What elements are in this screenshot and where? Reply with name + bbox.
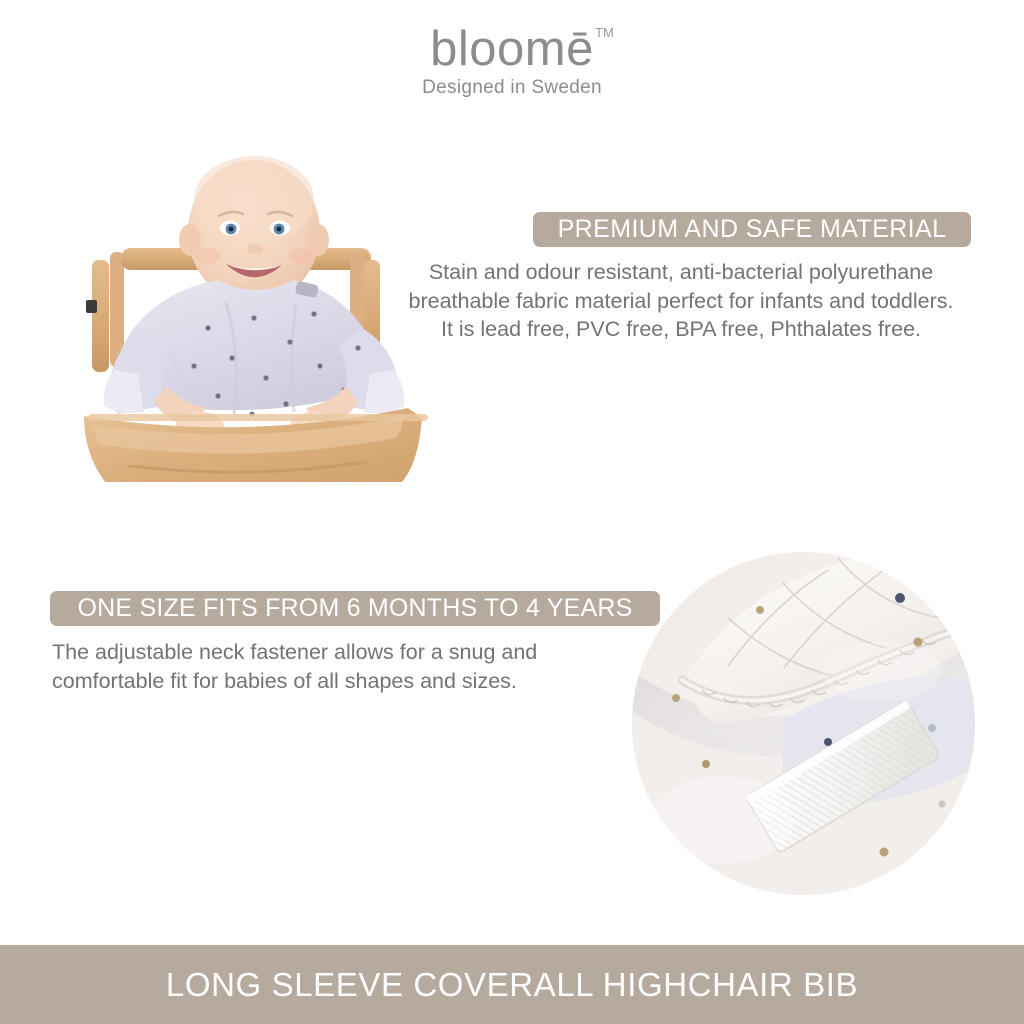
copy-line: It is lead free, PVC free, BPA free, Pht… (386, 315, 976, 344)
brand-wordmark: bloomē TM (430, 24, 594, 75)
copy-line: breathable fabric material perfect for i… (386, 287, 976, 316)
copy-line: The adjustable neck fastener allows for … (52, 638, 612, 667)
trademark-icon: TM (595, 26, 614, 40)
footer-title: LONG SLEEVE COVERALL HIGHCHAIR BIB (166, 966, 858, 1004)
brand-tagline: Designed in Sweden (0, 77, 1024, 99)
brand-logo: bloomē TM Designed in Sweden (0, 24, 1024, 99)
banner-one-size-fits: ONE SIZE FITS FROM 6 MONTHS TO 4 YEARS (50, 591, 660, 626)
copy-line: comfortable fit for babies of all shapes… (52, 667, 612, 696)
copy-line: Stain and odour resistant, anti-bacteria… (386, 258, 976, 287)
brand-wordmark-text: bloomē (430, 22, 594, 76)
copy-one-size-fits: The adjustable neck fastener allows for … (52, 638, 612, 695)
product-infographic: bloomē TM Designed in Sweden (0, 0, 1024, 1024)
copy-premium-and-safe-material: Stain and odour resistant, anti-bacteria… (386, 258, 976, 344)
neck-fastener-closeup-photo (632, 552, 975, 895)
footer-banner: LONG SLEEVE COVERALL HIGHCHAIR BIB (0, 945, 1024, 1024)
banner-premium-and-safe-material: PREMIUM AND SAFE MATERIAL (533, 212, 971, 247)
